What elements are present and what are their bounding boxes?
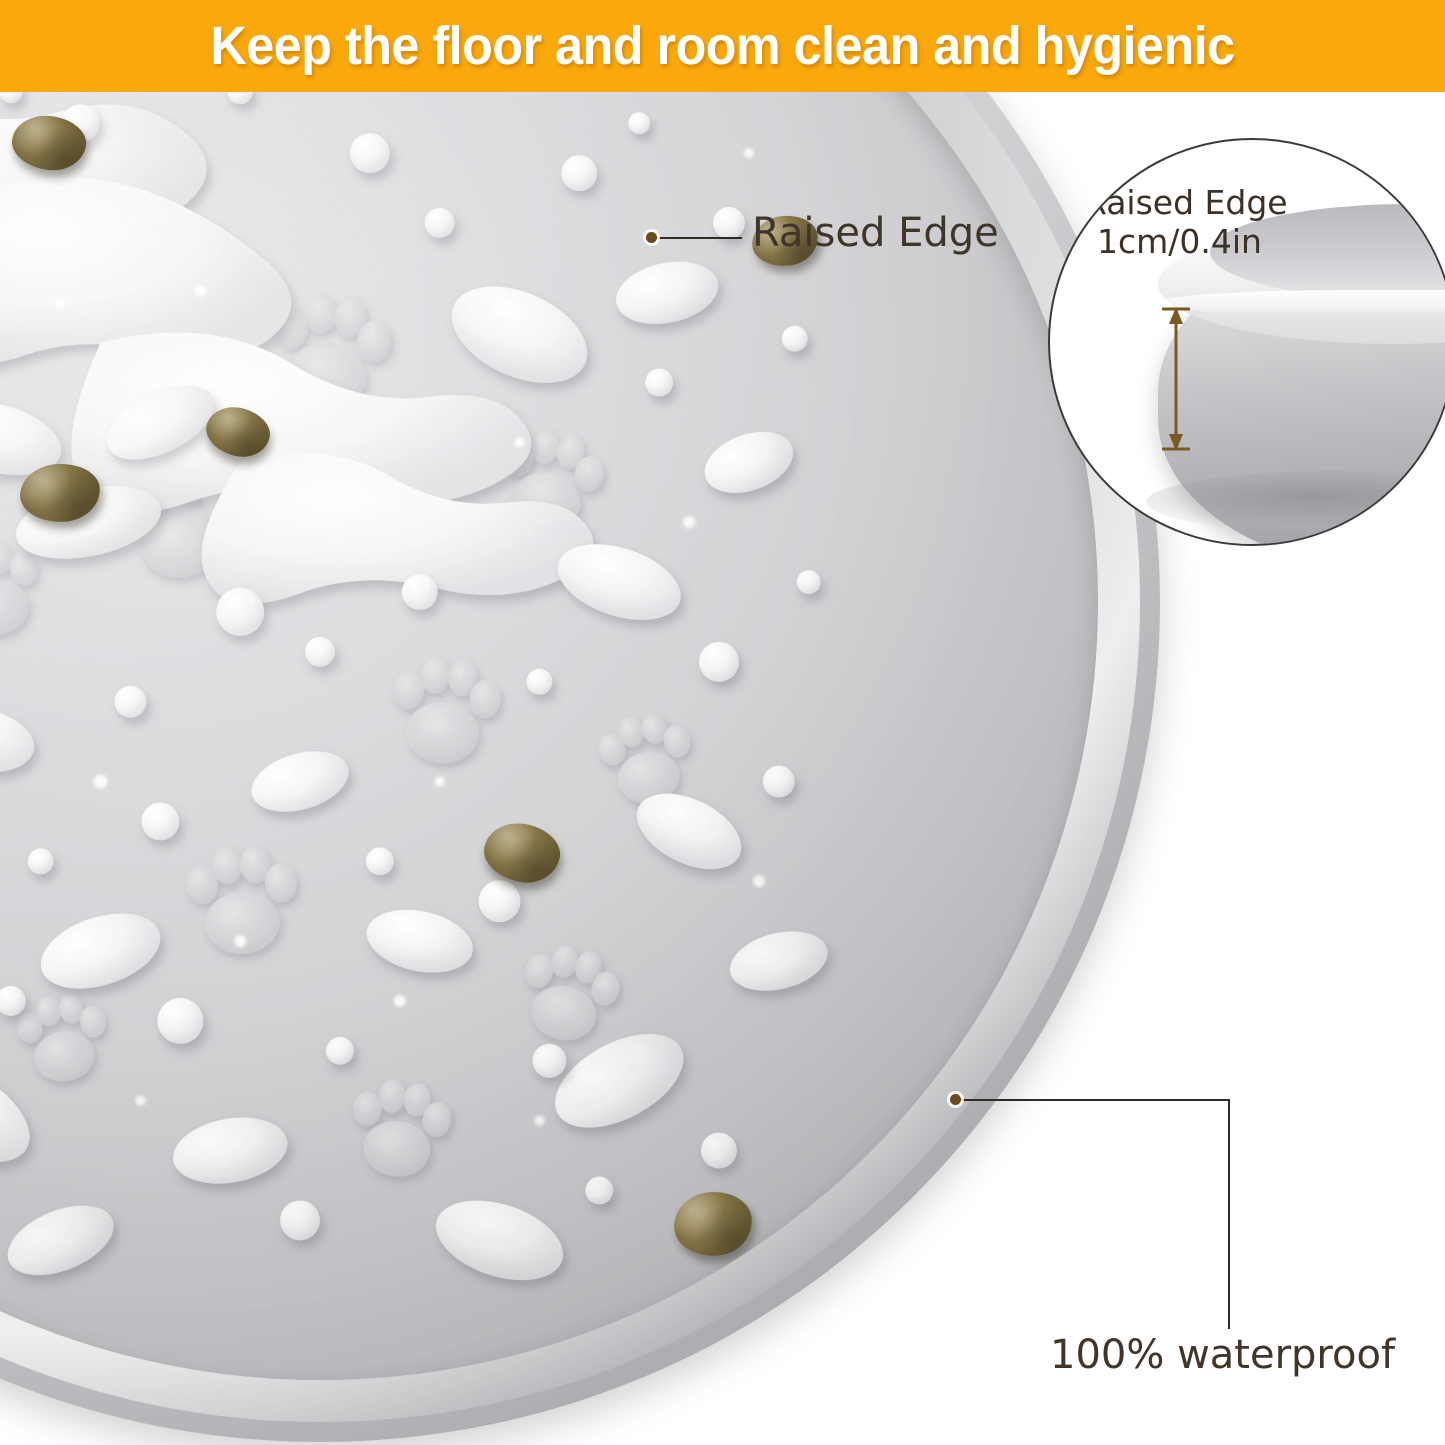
headline-banner: Keep the floor and room clean and hygien… (0, 0, 1445, 92)
raised-edge-callout-label: Raised Edge (752, 210, 999, 256)
raised-edge-leader-dot (646, 232, 657, 243)
waterproof-leader-line-horizontal (956, 1099, 1230, 1101)
feeding-mat (0, 92, 1160, 1442)
raised-edge-detail-inset: Raised Edge 1cm/0.4in (1048, 138, 1445, 546)
water-and-paw-surface (0, 92, 1098, 1380)
product-infographic: Keep the floor and room clean and hygien… (0, 0, 1445, 1445)
raised-edge-leader-line (652, 237, 742, 239)
kibble-piece (1020, 928, 1082, 992)
product-photo: Raised Edge 100% waterproof Raised Edge … (0, 92, 1445, 1445)
dimension-arrow (1158, 304, 1194, 454)
headline-text: Keep the floor and room clean and hygien… (210, 19, 1234, 73)
inset-label-block: Raised Edge 1cm/0.4in (1084, 184, 1288, 262)
waterproof-leader-dot (950, 1094, 961, 1105)
waterproof-leader-line-vertical (1228, 1099, 1230, 1329)
inset-title: Raised Edge (1084, 183, 1288, 222)
inset-measurement: 1cm/0.4in (1084, 223, 1288, 262)
waterproof-callout-label: 100% waterproof (1050, 1332, 1395, 1378)
mat-inner-floor (0, 92, 1098, 1380)
